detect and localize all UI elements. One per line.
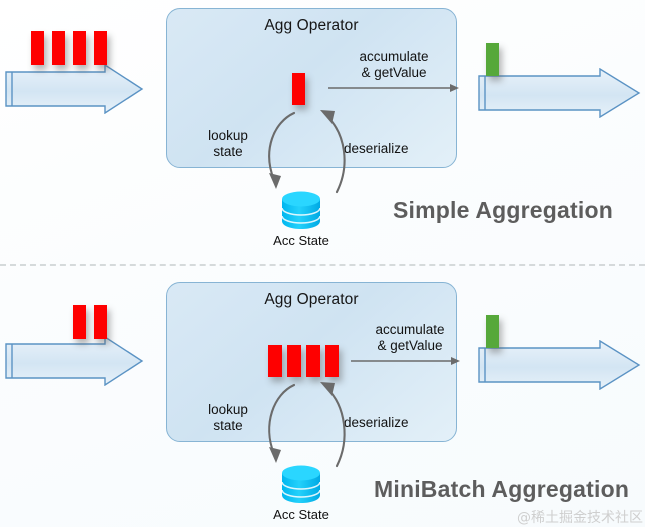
operator-record (287, 345, 301, 377)
input-record (73, 305, 86, 339)
agg-operator-label: Agg Operator (167, 17, 456, 35)
deserialize-arrow (300, 376, 362, 470)
diagram-canvas: Agg Operator accumulate & getValue looku… (0, 0, 645, 527)
operator-record (306, 345, 320, 377)
output-record (486, 315, 499, 348)
operator-record (268, 345, 282, 377)
agg-operator-label: Agg Operator (167, 291, 456, 309)
input-record (94, 31, 107, 65)
input-record (94, 305, 107, 339)
panel-simple-aggregation: Agg Operator accumulate & getValue looku… (0, 0, 645, 264)
panel-minibatch-aggregation: Agg Operator accumulate & getValue looku… (0, 264, 645, 527)
operator-record (292, 73, 305, 105)
input-stream-arrow (5, 336, 145, 386)
operator-record (325, 345, 339, 377)
accumulate-label: accumulate & getValue (330, 49, 458, 81)
accumulate-arrow (351, 355, 461, 367)
panel-heading: Simple Aggregation (393, 197, 613, 224)
acc-state-label: Acc State (241, 233, 361, 248)
output-record (486, 43, 499, 76)
accumulate-arrow (328, 82, 460, 94)
watermark: @稀土掘金技术社区 (517, 507, 643, 527)
input-stream-arrow (5, 64, 145, 114)
output-stream-arrow (478, 68, 642, 118)
deserialize-arrow (300, 104, 362, 196)
input-record (31, 31, 44, 65)
output-stream-arrow (478, 340, 642, 390)
input-record (52, 31, 65, 65)
acc-state-label: Acc State (241, 507, 361, 522)
panel-heading: MiniBatch Aggregation (374, 476, 629, 503)
input-record (73, 31, 86, 65)
database-cylinder-icon (280, 190, 324, 232)
database-cylinder-icon (280, 464, 324, 506)
accumulate-label: accumulate & getValue (355, 322, 465, 354)
